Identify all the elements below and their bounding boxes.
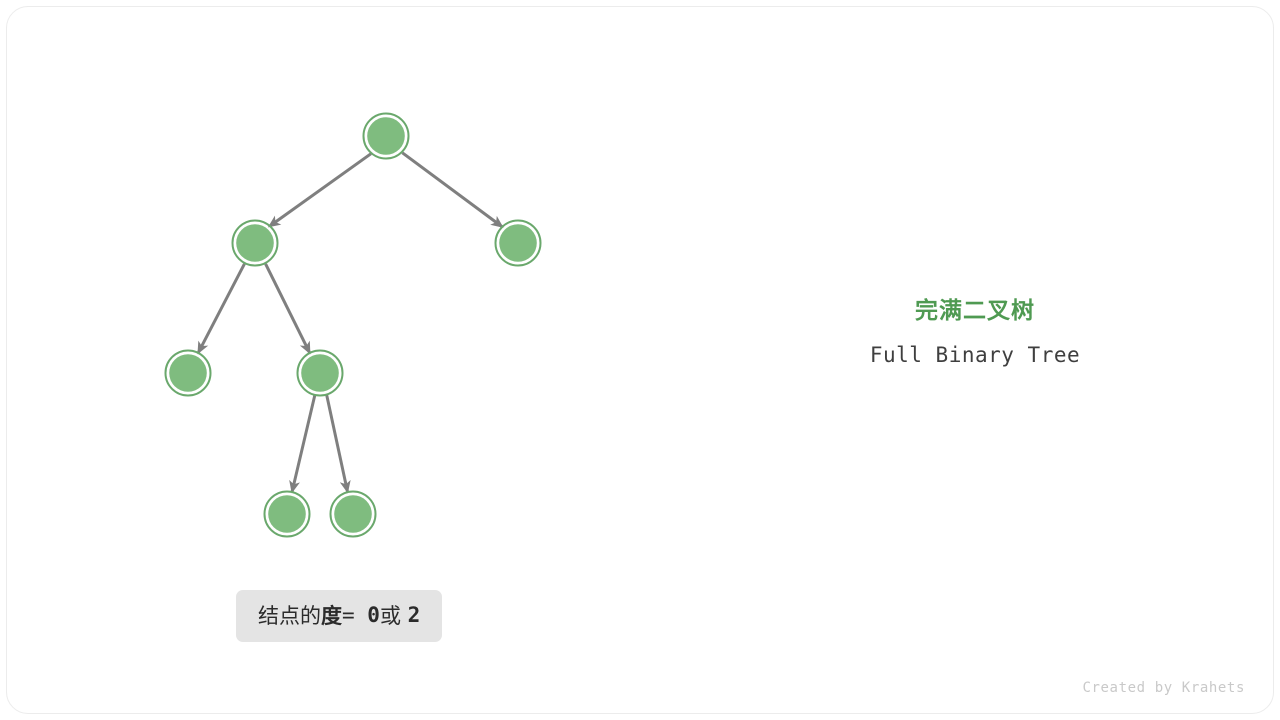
- edge-root-R: [402, 153, 501, 227]
- degree-annotation-chip: 结点的 度 = 0 或 2: [236, 590, 442, 642]
- degree-chip-prefix: 结点的: [258, 604, 321, 628]
- degree-chip-value-zero: 0: [367, 603, 380, 627]
- edge-LR-LRR: [327, 395, 348, 491]
- tree-node-LRR[interactable]: [331, 492, 376, 537]
- edge-root-L: [270, 154, 371, 226]
- edge-LR-LRL: [292, 395, 315, 491]
- caption-title: 完满二叉树: [775, 295, 1175, 325]
- degree-chip-or: 或: [380, 604, 408, 628]
- degree-chip-equals: =: [342, 603, 367, 627]
- tree-node-LRL[interactable]: [265, 492, 310, 537]
- degree-chip-keyword: 度: [321, 604, 342, 628]
- edge-L-LL: [199, 264, 245, 352]
- tree-node-LR[interactable]: [298, 351, 343, 396]
- tree-nodes: [166, 114, 541, 537]
- tree-edges: [199, 153, 502, 491]
- edge-L-LR: [266, 264, 310, 352]
- tree-node-R[interactable]: [496, 221, 541, 266]
- tree-node-root[interactable]: [364, 114, 409, 159]
- tree-node-LL[interactable]: [166, 351, 211, 396]
- tree-node-L[interactable]: [233, 221, 278, 266]
- diagram-card: 完满二叉树 Full Binary Tree 结点的 度 = 0 或 2 Cre…: [6, 6, 1274, 714]
- caption-subtitle: Full Binary Tree: [775, 342, 1175, 368]
- degree-chip-value-two: 2: [408, 603, 421, 627]
- footer-credit: Created by Krahets: [1082, 680, 1245, 696]
- caption-block: 完满二叉树 Full Binary Tree: [775, 295, 1175, 368]
